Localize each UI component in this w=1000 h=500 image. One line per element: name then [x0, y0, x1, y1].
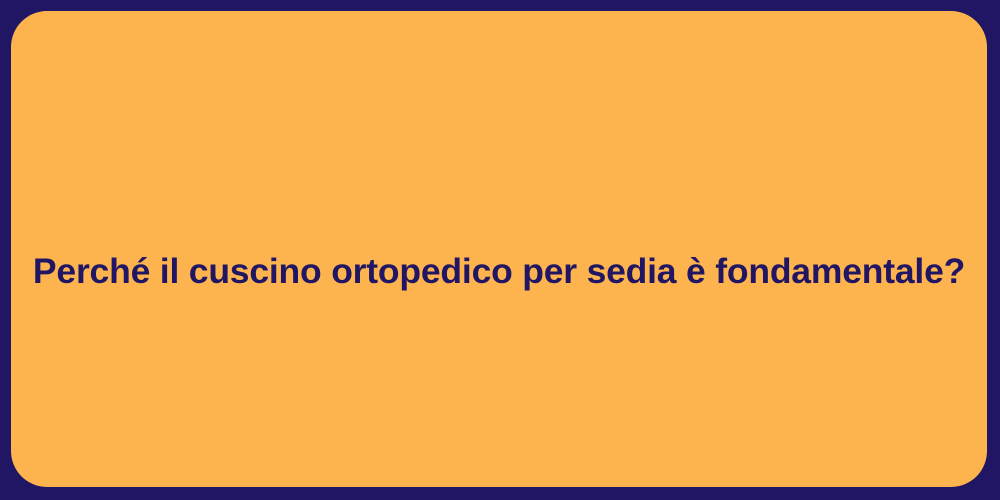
card-canvas: Perché il cuscino ortopedico per sedia è… [0, 0, 1000, 500]
headline-container: Perché il cuscino ortopedico per sedia è… [11, 249, 987, 293]
page-title: Perché il cuscino ortopedico per sedia è… [33, 249, 965, 293]
content-panel: Perché il cuscino ortopedico per sedia è… [11, 11, 987, 487]
